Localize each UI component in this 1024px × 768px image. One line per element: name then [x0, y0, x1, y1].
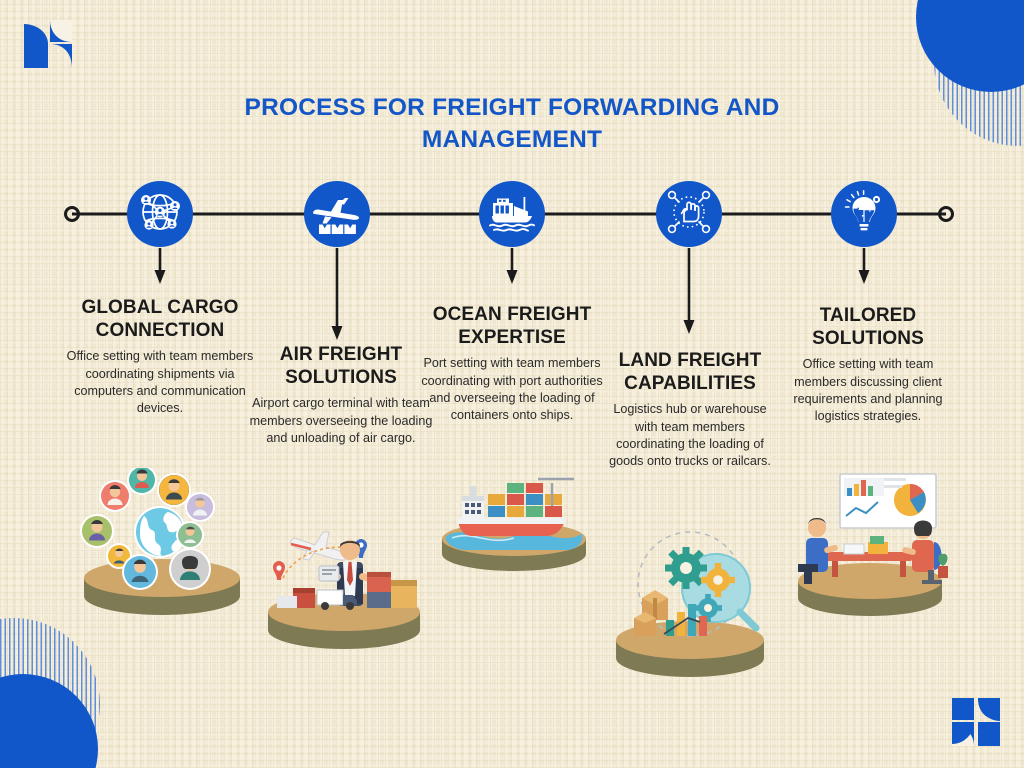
step-1-text: GLOBAL CARGO CONNECTION Office setting w…: [62, 296, 258, 418]
step-4-text: LAND FREIGHT CAPABILITIES Logistics hub …: [602, 349, 778, 471]
step-5-heading: TAILORED SOLUTIONS: [782, 304, 954, 350]
step-3-text: OCEAN FREIGHT EXPERTISE Port setting wit…: [418, 303, 606, 425]
puzzle-lightbulb-icon: [836, 184, 892, 245]
cargo-ship-icon: [484, 184, 540, 245]
timeline-node-2[interactable]: [304, 181, 370, 247]
team-meeting-charts-illustration: [784, 466, 956, 622]
fist-network-icon: [661, 184, 717, 245]
timeline-node-3[interactable]: [479, 181, 545, 247]
step-1-heading: GLOBAL CARGO CONNECTION: [62, 296, 258, 342]
team-around-globe-illustration: [72, 468, 252, 620]
airport-cargo-worker-illustration: [255, 500, 433, 652]
step-2-text: AIR FREIGHT SOLUTIONS Airport cargo term…: [248, 343, 434, 447]
timeline-node-4[interactable]: [656, 181, 722, 247]
timeline-node-1[interactable]: [127, 181, 193, 247]
step-2-heading: AIR FREIGHT SOLUTIONS: [248, 343, 434, 389]
step-5-text: TAILORED SOLUTIONS Office setting with t…: [782, 304, 954, 426]
step-3-body: Port setting with team members coordinat…: [418, 355, 606, 425]
timeline-node-5[interactable]: [831, 181, 897, 247]
gears-magnifier-boxes-illustration: [604, 522, 776, 680]
airplane-cargo-icon: [309, 184, 365, 245]
step-2-body: Airport cargo terminal with team members…: [248, 395, 434, 447]
step-5-body: Office setting with team members discuss…: [782, 356, 954, 426]
step-1-body: Office setting with team members coordin…: [62, 348, 258, 418]
globe-network-people-icon: [133, 185, 187, 244]
infographic-canvas: PROCESS FOR FREIGHT FORWARDING AND MANAG…: [0, 0, 1024, 768]
step-4-heading: LAND FREIGHT CAPABILITIES: [602, 349, 778, 395]
step-3-heading: OCEAN FREIGHT EXPERTISE: [418, 303, 606, 349]
step-4-body: Logistics hub or warehouse with team mem…: [602, 401, 778, 471]
container-ship-illustration: [428, 466, 600, 576]
